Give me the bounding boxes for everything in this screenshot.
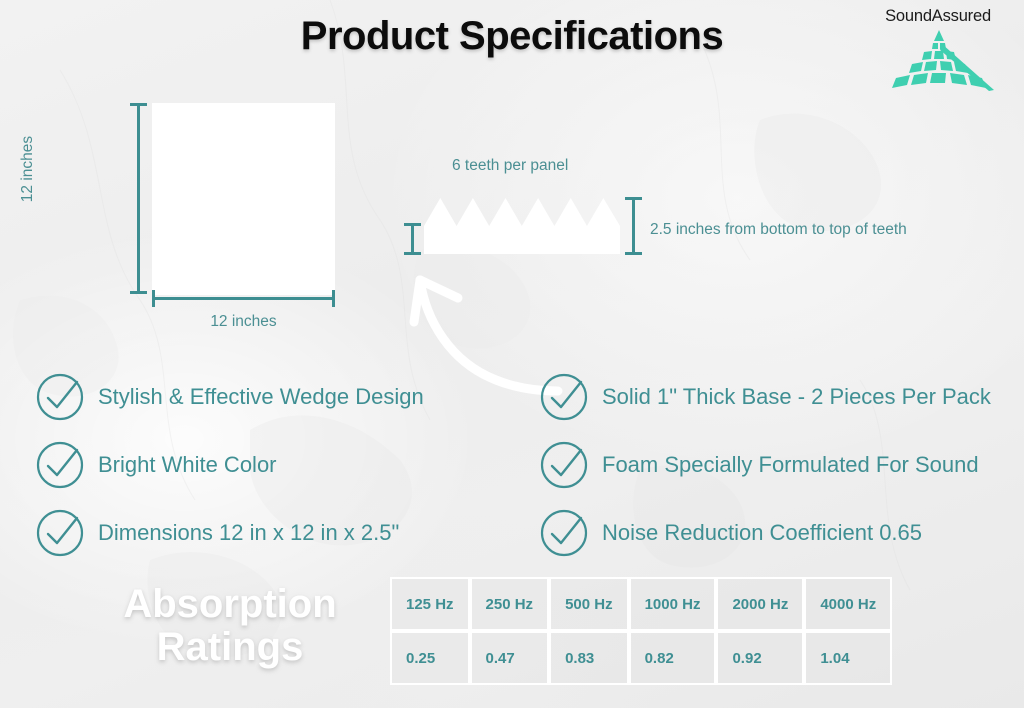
brand-wordmark: SoundAssured (872, 7, 1004, 26)
features-left-column: Stylish & Effective Wedge Design Bright … (34, 372, 504, 576)
feature-label: Solid 1" Thick Base - 2 Pieces Per Pack (602, 384, 991, 410)
feature-item: Dimensions 12 in x 12 in x 2.5" (34, 508, 504, 558)
feature-label: Bright White Color (98, 452, 277, 478)
teeth-height-cap-top (625, 197, 642, 200)
infographic-canvas: Product Specifications SoundAssured (0, 0, 1024, 708)
absorption-value-cell: 0.92 (716, 631, 804, 685)
frequency-header-cell: 250 Hz (470, 577, 550, 631)
ratings-heading-line2: Ratings (80, 626, 380, 669)
width-dimension-rule (152, 297, 335, 300)
width-dimension-cap-right (332, 290, 335, 307)
feature-label: Dimensions 12 in x 12 in x 2.5" (98, 520, 399, 546)
feature-label: Foam Specially Formulated For Sound (602, 452, 979, 478)
brand-logo: SoundAssured (882, 4, 1014, 92)
teeth-count-label: 6 teeth per panel (452, 157, 568, 175)
feature-label: Noise Reduction Coefficient 0.65 (602, 520, 922, 546)
check-circle-icon (538, 439, 590, 491)
feature-item: Stylish & Effective Wedge Design (34, 372, 504, 422)
feature-item: Foam Specially Formulated For Sound (538, 440, 1024, 490)
square-panel-face (152, 103, 335, 295)
square-height-label: 12 inches (19, 119, 37, 219)
feature-item: Bright White Color (34, 440, 504, 490)
check-circle-icon (538, 507, 590, 559)
feature-item: Noise Reduction Coefficient 0.65 (538, 508, 1024, 558)
absorption-value-cell: 1.04 (804, 631, 892, 685)
frequency-header-cell: 2000 Hz (716, 577, 804, 631)
width-dimension-cap-left (152, 290, 155, 307)
check-circle-icon (538, 371, 590, 423)
check-circle-icon (34, 371, 86, 423)
feature-item: Solid 1" Thick Base - 2 Pieces Per Pack (538, 372, 1024, 422)
absorption-value-cell: 0.82 (629, 631, 717, 685)
wedge-profile-shape (424, 196, 620, 254)
frequency-header-cell: 4000 Hz (804, 577, 892, 631)
height-dimension-rule (137, 104, 140, 293)
absorption-ratings-table: 125 Hz 250 Hz 500 Hz 1000 Hz 2000 Hz 400… (390, 577, 892, 685)
teeth-height-rule (632, 198, 635, 254)
frequency-header-cell: 125 Hz (390, 577, 470, 631)
absorption-value-cell: 0.25 (390, 631, 470, 685)
table-row-values: 0.25 0.47 0.83 0.82 0.92 1.04 (390, 631, 892, 685)
features-right-column: Solid 1" Thick Base - 2 Pieces Per Pack … (538, 372, 1024, 576)
base-thickness-cap-top (404, 223, 421, 226)
ratings-heading-line1: Absorption (80, 583, 380, 626)
base-thickness-cap-bottom (404, 252, 421, 255)
square-width-label: 12 inches (152, 313, 335, 331)
pyramid-logo-icon (876, 28, 1002, 94)
teeth-height-cap-bottom (625, 252, 642, 255)
table-row-headers: 125 Hz 250 Hz 500 Hz 1000 Hz 2000 Hz 400… (390, 577, 892, 631)
absorption-ratings-heading: Absorption Ratings (80, 583, 380, 669)
check-circle-icon (34, 507, 86, 559)
frequency-header-cell: 1000 Hz (629, 577, 717, 631)
page-title: Product Specifications (0, 14, 1024, 59)
height-dimension-cap-top (130, 103, 147, 106)
absorption-value-cell: 0.83 (549, 631, 629, 685)
absorption-value-cell: 0.47 (470, 631, 550, 685)
height-dimension-cap-bottom (130, 291, 147, 294)
teeth-height-label: 2.5 inches from bottom to top of teeth (650, 221, 907, 239)
frequency-header-cell: 500 Hz (549, 577, 629, 631)
check-circle-icon (34, 439, 86, 491)
feature-label: Stylish & Effective Wedge Design (98, 384, 424, 410)
base-thickness-rule (411, 224, 414, 254)
